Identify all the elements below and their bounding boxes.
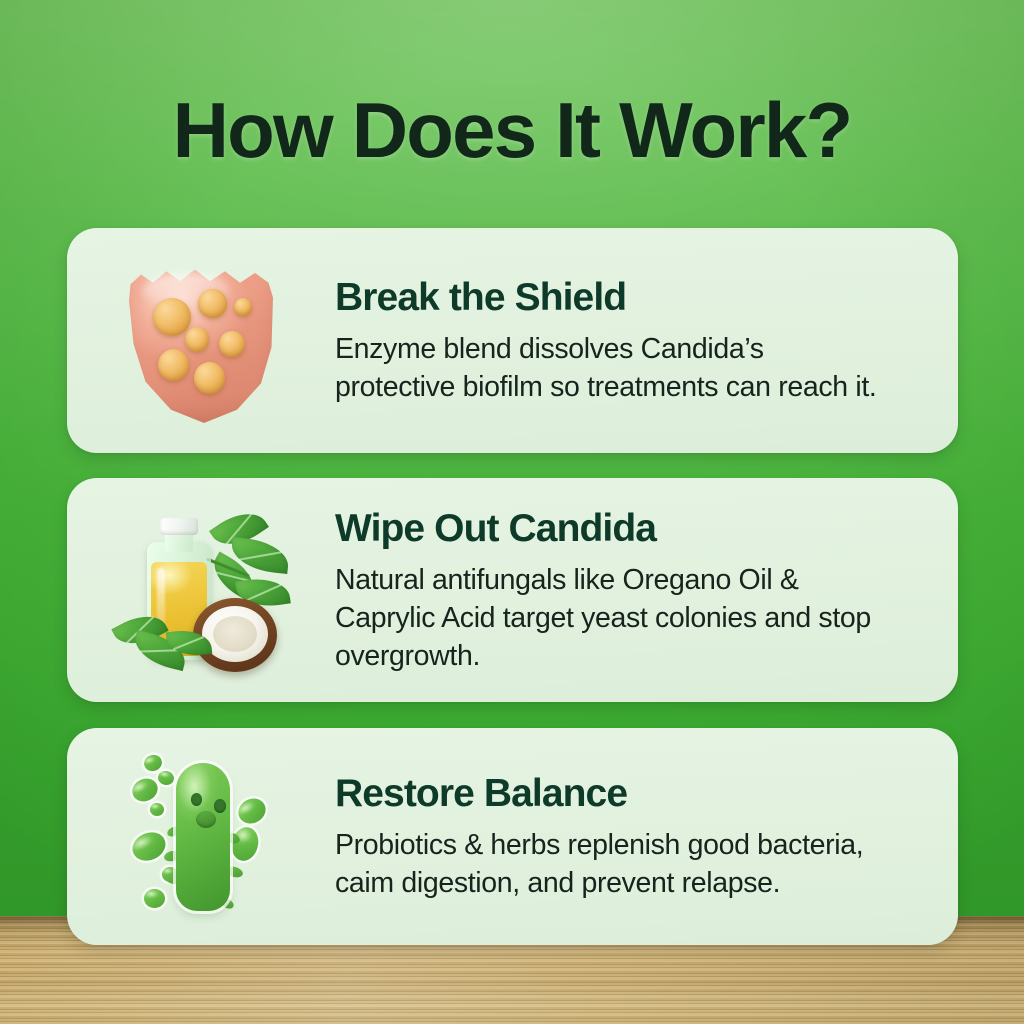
step-3-icon-slot	[67, 728, 335, 945]
bacterium-eye-right	[214, 799, 226, 813]
probiotic-blob	[228, 824, 261, 863]
probiotic-bacterium-icon	[114, 749, 289, 924]
oregano-oil-coconut-icon	[109, 504, 294, 676]
step-card-restore-balance: Restore Balance Probiotics & herbs reple…	[67, 728, 958, 945]
probiotic-blob	[128, 774, 161, 805]
step-2-text: Wipe Out Candida Natural antifungals lik…	[335, 506, 958, 675]
step-card-break-the-shield: Break the Shield Enzyme blend dissolves …	[67, 228, 958, 453]
bottle-cap	[160, 518, 198, 535]
step-3-text: Restore Balance Probiotics & herbs reple…	[335, 771, 958, 902]
step-1-body: Enzyme blend dissolves Candida’s protect…	[335, 330, 880, 406]
biofilm-spore	[219, 331, 245, 357]
probiotic-blob	[234, 794, 270, 828]
probiotic-blob	[144, 889, 165, 908]
step-card-wipe-out-candida: Wipe Out Candida Natural antifungals lik…	[67, 478, 958, 702]
biofilm-spore	[198, 289, 227, 318]
bacterium-eye-left	[191, 793, 202, 806]
biofilm-spore	[153, 298, 191, 336]
biofilm-spore	[185, 327, 209, 352]
biofilm-spore	[194, 362, 226, 394]
step-3-body: Probiotics & herbs replenish good bacter…	[335, 826, 880, 902]
biofilm-spore	[234, 298, 252, 316]
biofilm-spore	[158, 349, 190, 381]
step-2-icon-slot	[67, 478, 335, 702]
bacterium-mouth	[196, 811, 216, 828]
step-3-heading: Restore Balance	[335, 771, 928, 817]
bacterium-body	[176, 763, 230, 911]
step-1-icon-slot	[67, 228, 335, 453]
step-2-body: Natural antifungals like Oregano Oil & C…	[335, 561, 880, 675]
halved-coconut	[193, 598, 277, 672]
biofilm-shield-icon	[126, 258, 276, 423]
step-2-heading: Wipe Out Candida	[335, 506, 928, 552]
step-1-text: Break the Shield Enzyme blend dissolves …	[335, 275, 958, 406]
probiotic-blob	[127, 827, 169, 865]
infographic-poster: How Does It Work? Break the Shield Enzym…	[0, 0, 1024, 1024]
coconut-core	[213, 616, 257, 652]
step-1-heading: Break the Shield	[335, 275, 928, 321]
probiotic-blob	[141, 753, 163, 774]
probiotic-blob	[156, 769, 175, 786]
page-title: How Does It Work?	[0, 85, 1024, 175]
probiotic-blob	[150, 803, 164, 816]
